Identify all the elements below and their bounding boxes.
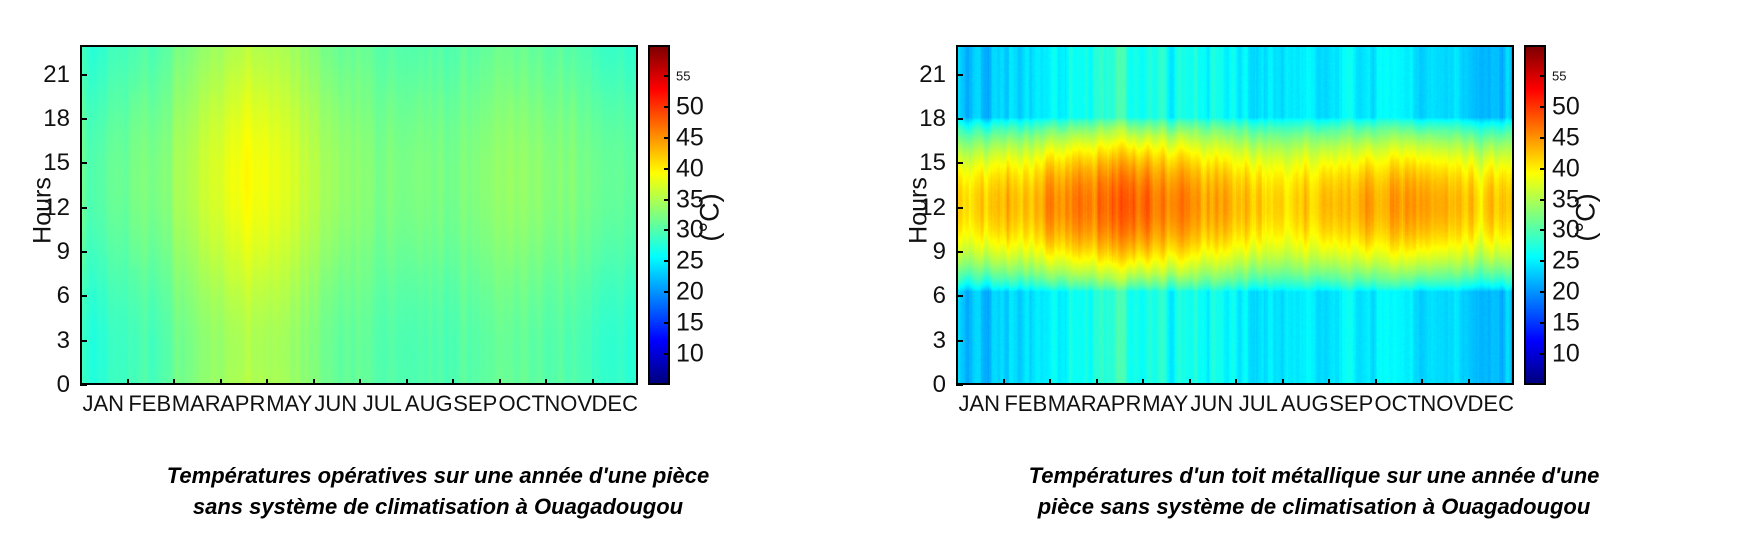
x-tick-label-mar: MAR xyxy=(172,391,221,417)
x-tick-mark xyxy=(1049,379,1051,385)
y-tick-mark xyxy=(956,118,963,120)
x-tick-mark xyxy=(266,379,268,385)
y-tick-mark xyxy=(956,251,963,253)
colorbar-canvas-left xyxy=(650,47,668,383)
colorbar-tick-label: 15 xyxy=(1552,309,1580,338)
colorbar-label-left: (°C) xyxy=(695,168,726,268)
x-tick-mark xyxy=(545,379,547,385)
colorbar-tick-mark xyxy=(664,291,670,293)
colorbar-left xyxy=(648,45,670,385)
x-tick-mark xyxy=(499,379,501,385)
heatmap-right xyxy=(956,45,1514,385)
colorbar-right xyxy=(1524,45,1546,385)
x-tick-label-nov: NOV xyxy=(1420,391,1468,417)
y-tick-label: 0 xyxy=(898,371,946,399)
colorbar-tick-mark xyxy=(1540,199,1546,201)
colorbar-tick-mark xyxy=(664,229,670,231)
colorbar-tick-mark xyxy=(664,199,670,201)
y-tick-mark xyxy=(80,295,87,297)
y-tick-label: 15 xyxy=(898,149,946,177)
x-tick-mark xyxy=(1189,379,1191,385)
colorbar-tick-mark xyxy=(1540,168,1546,170)
caption-right-line1: Températures d'un toit métallique sur un… xyxy=(876,460,1752,491)
y-tick-label: 15 xyxy=(22,149,70,177)
x-tick-label-feb: FEB xyxy=(128,391,171,417)
x-tick-label-jul: JUL xyxy=(1239,391,1278,417)
x-tick-mark xyxy=(359,379,361,385)
figure-root: Hours 036912151821 JANFEBMARAPRMAYJUNJUL… xyxy=(0,0,1752,550)
colorbar-tick-label: 45 xyxy=(1552,123,1580,152)
colorbar-tick-label: 20 xyxy=(676,278,704,307)
y-tick-label: 12 xyxy=(898,194,946,222)
x-tick-mark xyxy=(80,379,82,385)
x-tick-mark xyxy=(1096,379,1098,385)
colorbar-tick-mark xyxy=(664,353,670,355)
heatmap-left xyxy=(80,45,638,385)
y-tick-label: 21 xyxy=(22,61,70,89)
y-tick-mark xyxy=(80,340,87,342)
x-tick-mark xyxy=(1282,379,1284,385)
heatmap-canvas-left xyxy=(82,47,636,383)
x-tick-mark xyxy=(1142,379,1144,385)
colorbar-tick-mark xyxy=(664,260,670,262)
y-tick-label: 18 xyxy=(22,105,70,133)
x-tick-label-jun: JUN xyxy=(1190,391,1233,417)
x-tick-label-sep: SEP xyxy=(1329,391,1373,417)
colorbar-tick-mark xyxy=(1540,291,1546,293)
colorbar-tick-mark xyxy=(1540,137,1546,139)
panel-left: Hours 036912151821 JANFEBMARAPRMAYJUNJUL… xyxy=(0,0,876,550)
colorbar-tick-mark xyxy=(664,322,670,324)
x-tick-mark xyxy=(956,379,958,385)
x-tick-label-dec: DEC xyxy=(1468,391,1514,417)
caption-left-line2: sans système de climatisation à Ouagadou… xyxy=(0,491,876,522)
x-tick-mark xyxy=(220,379,222,385)
x-tick-label-jan: JAN xyxy=(82,391,124,417)
x-tick-label-apr: APR xyxy=(220,391,265,417)
y-tick-label: 3 xyxy=(898,327,946,355)
caption-right: Températures d'un toit métallique sur un… xyxy=(876,460,1752,522)
x-tick-label-jun: JUN xyxy=(314,391,357,417)
x-tick-mark xyxy=(1003,379,1005,385)
x-tick-mark xyxy=(127,379,129,385)
x-tick-mark xyxy=(592,379,594,385)
y-tick-label: 3 xyxy=(22,327,70,355)
x-tick-mark xyxy=(406,379,408,385)
y-tick-label: 6 xyxy=(898,282,946,310)
x-tick-mark xyxy=(1375,379,1377,385)
colorbar-tick-mark xyxy=(664,75,670,77)
y-tick-label: 9 xyxy=(22,238,70,266)
colorbar-tick-label: 55 xyxy=(1552,68,1566,83)
x-tick-label-dec: DEC xyxy=(592,391,638,417)
y-tick-mark xyxy=(80,251,87,253)
x-tick-mark xyxy=(1468,379,1470,385)
y-tick-mark xyxy=(956,207,963,209)
y-tick-label: 12 xyxy=(22,194,70,222)
colorbar-tick-mark xyxy=(1540,229,1546,231)
y-tick-label: 18 xyxy=(898,105,946,133)
x-tick-label-oct: OCT xyxy=(1375,391,1421,417)
x-tick-mark xyxy=(313,379,315,385)
colorbar-tick-label: 50 xyxy=(1552,92,1580,121)
colorbar-canvas-right xyxy=(1526,47,1544,383)
y-tick-label: 21 xyxy=(898,61,946,89)
heatmap-canvas-right xyxy=(958,47,1512,383)
colorbar-tick-label: 20 xyxy=(1552,278,1580,307)
x-tick-label-aug: AUG xyxy=(1281,391,1329,417)
colorbar-tick-mark xyxy=(1540,75,1546,77)
colorbar-tick-mark xyxy=(664,168,670,170)
colorbar-tick-mark xyxy=(664,106,670,108)
x-tick-label-may: MAY xyxy=(1142,391,1188,417)
y-tick-mark xyxy=(80,162,87,164)
colorbar-tick-mark xyxy=(1540,260,1546,262)
x-tick-label-aug: AUG xyxy=(405,391,453,417)
y-tick-mark xyxy=(80,207,87,209)
colorbar-label-right: (°C) xyxy=(1571,168,1602,268)
caption-right-line2: pièce sans système de climatisation à Ou… xyxy=(876,491,1752,522)
x-tick-mark xyxy=(1328,379,1330,385)
y-tick-mark xyxy=(956,74,963,76)
y-tick-mark xyxy=(80,74,87,76)
x-tick-mark xyxy=(173,379,175,385)
x-tick-mark xyxy=(1421,379,1423,385)
panel-right: Hours 036912151821 JANFEBMARAPRMAYJUNJUL… xyxy=(876,0,1752,550)
colorbar-tick-label: 50 xyxy=(676,92,704,121)
y-tick-mark xyxy=(956,162,963,164)
x-tick-label-jan: JAN xyxy=(958,391,1000,417)
x-tick-mark xyxy=(452,379,454,385)
y-tick-mark xyxy=(80,118,87,120)
x-tick-mark xyxy=(1235,379,1237,385)
colorbar-tick-mark xyxy=(1540,106,1546,108)
x-tick-label-nov: NOV xyxy=(544,391,592,417)
colorbar-tick-mark xyxy=(1540,353,1546,355)
x-tick-label-feb: FEB xyxy=(1004,391,1047,417)
colorbar-tick-label: 55 xyxy=(676,68,690,83)
caption-left: Températures opératives sur une année d'… xyxy=(0,460,876,522)
colorbar-tick-label: 10 xyxy=(676,340,704,369)
x-tick-label-may: MAY xyxy=(266,391,312,417)
y-tick-mark xyxy=(956,295,963,297)
y-tick-label: 9 xyxy=(898,238,946,266)
colorbar-tick-label: 15 xyxy=(676,309,704,338)
x-tick-label-apr: APR xyxy=(1096,391,1141,417)
colorbar-tick-mark xyxy=(664,137,670,139)
x-tick-label-jul: JUL xyxy=(363,391,402,417)
colorbar-tick-label: 10 xyxy=(1552,340,1580,369)
x-tick-label-sep: SEP xyxy=(453,391,497,417)
x-tick-label-mar: MAR xyxy=(1048,391,1097,417)
colorbar-tick-mark xyxy=(1540,322,1546,324)
y-tick-label: 0 xyxy=(22,371,70,399)
x-tick-label-oct: OCT xyxy=(499,391,545,417)
y-tick-label: 6 xyxy=(22,282,70,310)
y-tick-mark xyxy=(956,340,963,342)
caption-left-line1: Températures opératives sur une année d'… xyxy=(0,460,876,491)
colorbar-tick-label: 45 xyxy=(676,123,704,152)
